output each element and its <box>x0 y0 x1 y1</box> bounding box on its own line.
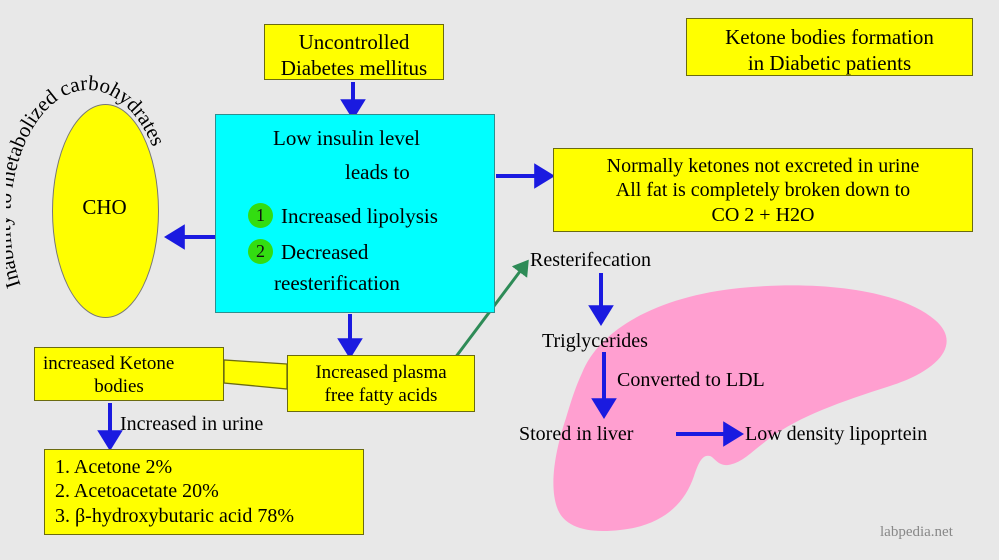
list-item: 2. Acetoacetate 20% <box>55 479 363 503</box>
normal-line-2: All fat is completely broken down to <box>554 178 972 202</box>
title-line-1: Ketone bodies formation <box>687 25 972 51</box>
liver-shape <box>470 258 990 548</box>
bullet-number-2: 2 <box>248 239 273 264</box>
ketone-body-list-box: 1. Acetone 2% 2. Acetoacetate 20% 3. β-h… <box>44 449 364 535</box>
ketone-line-2: bodies <box>43 375 223 398</box>
decreased-label: Decreased <box>281 240 368 265</box>
callout-tail-ffa-to-ketone <box>224 360 287 389</box>
increased-ketone-bodies-box: increased Ketone bodies <box>34 347 224 401</box>
low-density-lipoprotein-label: Low density lipoprtein <box>745 423 927 446</box>
title-line-2: in Diabetic patients <box>687 51 972 77</box>
increased-lipolysis-label: Increased lipolysis <box>281 204 438 229</box>
diagram-canvas: Ketone bodies formation in Diabetic pati… <box>0 0 999 560</box>
ketone-line-1: increased Ketone <box>43 352 223 375</box>
title-box: Ketone bodies formation in Diabetic pati… <box>686 18 973 76</box>
low-insulin-label: Low insulin level <box>273 126 420 151</box>
uncontrolled-line-2: Diabetes mellitus <box>265 56 443 82</box>
normal-line-1: Normally ketones not excreted in urine <box>554 154 972 178</box>
curved-label-text: Inability to metabolized carbohydrates <box>6 72 170 291</box>
resterification-label: Resterifecation <box>530 249 651 272</box>
watermark: labpedia.net <box>880 524 953 541</box>
list-item: 3. β-hydroxybutaric acid 78% <box>55 504 363 528</box>
leads-to-label: leads to <box>345 160 410 185</box>
stored-in-liver-label: Stored in liver <box>519 423 633 446</box>
normal-ketones-box: Normally ketones not excreted in urine A… <box>553 148 973 232</box>
svg-text:Inability to metabolized carbo: Inability to metabolized carbohydrates <box>6 72 170 291</box>
ffa-line-1: Increased plasma <box>288 361 474 384</box>
uncontrolled-diabetes-box: Uncontrolled Diabetes mellitus <box>264 24 444 80</box>
ffa-line-2: free fatty acids <box>288 384 474 407</box>
normal-line-3: CO 2 + H2O <box>554 203 972 227</box>
reesterification-label: reesterification <box>274 271 400 296</box>
converted-to-ldl-label: Converted to LDL <box>617 369 765 392</box>
list-item: 1. Acetone 2% <box>55 455 363 479</box>
free-fatty-acids-box: Increased plasma free fatty acids <box>287 355 475 412</box>
uncontrolled-line-1: Uncontrolled <box>265 30 443 56</box>
inability-curved-label: Inability to metabolized carbohydrates <box>6 72 196 322</box>
increased-in-urine-label: Increased in urine <box>120 413 263 436</box>
triglycerides-label: Triglycerides <box>542 330 648 353</box>
bullet-number-1: 1 <box>248 203 273 228</box>
